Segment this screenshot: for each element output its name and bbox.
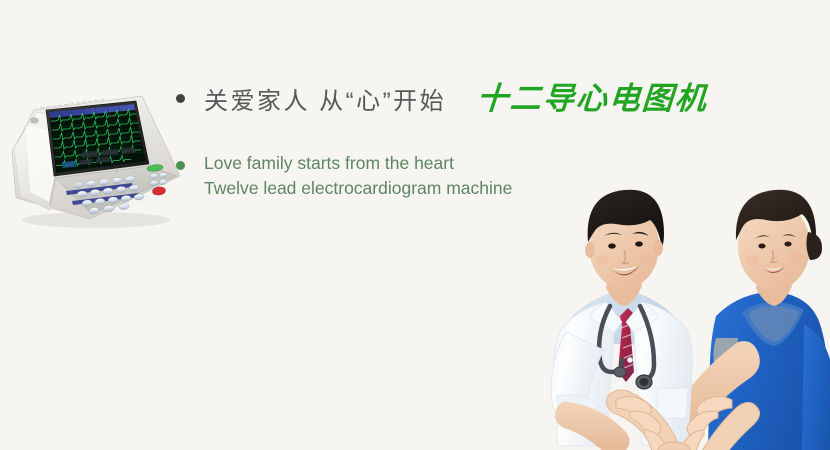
subheadline-line-1: Love family starts from the heart bbox=[204, 153, 454, 173]
subheadline-line-2: Twelve lead electrocardiogram machine bbox=[204, 178, 512, 198]
ecg-machine-illustration bbox=[4, 88, 184, 233]
doctor-and-nurse-photo bbox=[520, 120, 830, 450]
product-name-chinese: 十二导心电图机 bbox=[476, 84, 709, 114]
bullet-dot-icon bbox=[176, 94, 185, 103]
doctor-and-nurse-illustration bbox=[520, 120, 830, 450]
ecg-machine-photo bbox=[4, 88, 184, 233]
headline-chinese: 关爱家人 从“心”开始 bbox=[204, 88, 446, 115]
bullet-dot-icon bbox=[176, 161, 185, 170]
subheadline-english: Love family starts from the heart Twelve… bbox=[204, 151, 512, 201]
headline-row: 关爱家人 从“心”开始 十二导心电图机 bbox=[176, 84, 716, 117]
promo-banner: 关爱家人 从“心”开始 十二导心电图机 Love family starts f… bbox=[0, 0, 830, 450]
